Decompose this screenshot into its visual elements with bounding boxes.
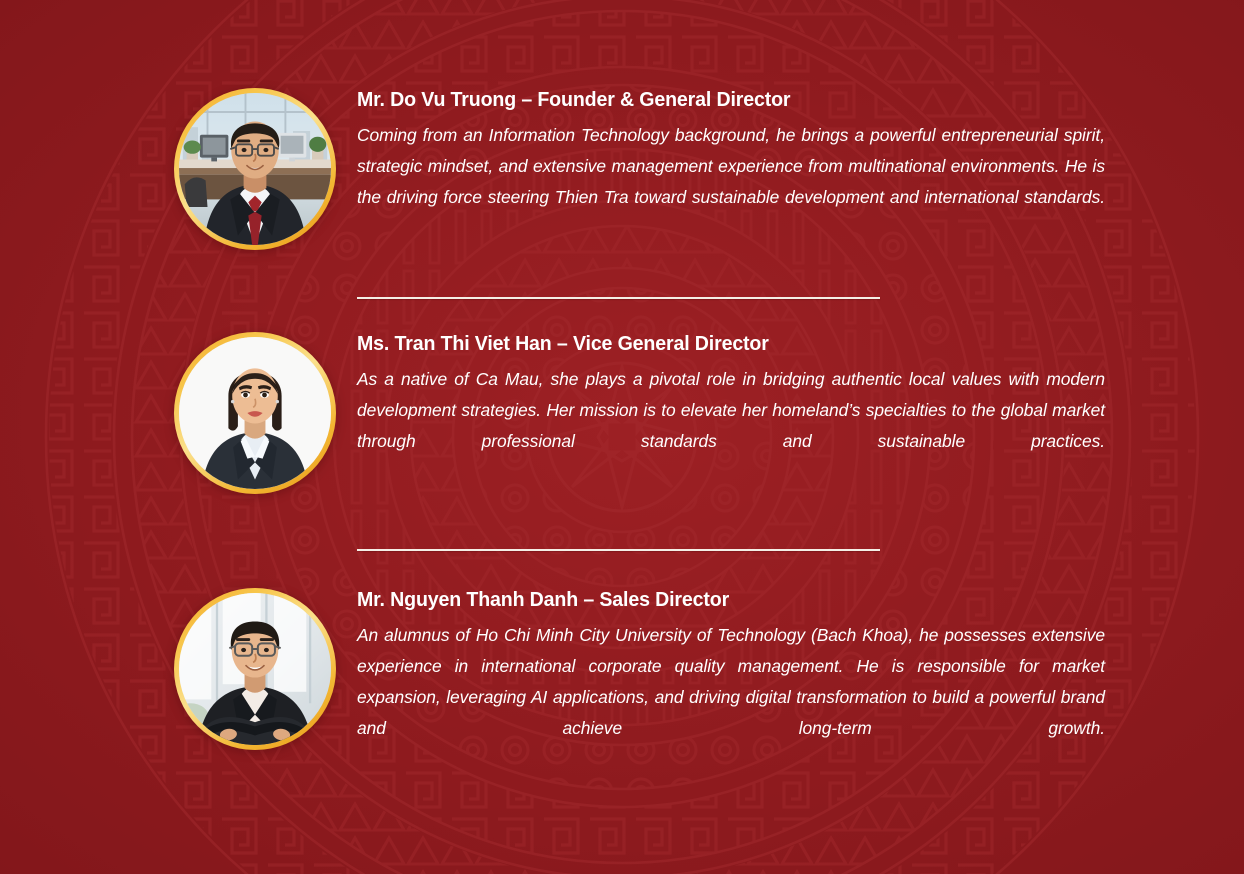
avatar-image-mask: [179, 593, 331, 745]
member-text-block: Mr. Do Vu Truong – Founder & General Dir…: [357, 88, 1105, 244]
portrait-man-glasses-red-tie-icon: [179, 93, 331, 245]
avatar-image-mask: [179, 93, 331, 245]
section-divider: [357, 549, 880, 551]
portrait-man-glasses-arms-crossed-icon: [179, 593, 331, 745]
member-name: Mr. Nguyen Thanh Danh – Sales Director: [357, 588, 1071, 613]
member-text-block: Mr. Nguyen Thanh Danh – Sales Director A…: [357, 588, 1105, 775]
member-bio: Coming from an Information Technology ba…: [357, 120, 1105, 244]
avatar: [174, 332, 336, 494]
section-divider: [357, 297, 880, 299]
member-name: Ms. Tran Thi Viet Han – Vice General Dir…: [357, 332, 1071, 357]
member-bio: An alumnus of Ho Chi Minh City Universit…: [357, 620, 1105, 775]
member-text-block: Ms. Tran Thi Viet Han – Vice General Dir…: [357, 332, 1105, 488]
leadership-team-slide: Mr. Do Vu Truong – Founder & General Dir…: [0, 0, 1244, 874]
avatar: [174, 588, 336, 750]
member-bio: As a native of Ca Mau, she plays a pivot…: [357, 364, 1105, 488]
avatar: [174, 88, 336, 250]
member-name: Mr. Do Vu Truong – Founder & General Dir…: [357, 88, 1071, 113]
portrait-woman-blazer-icon: [179, 337, 331, 489]
avatar-image-mask: [179, 337, 331, 489]
